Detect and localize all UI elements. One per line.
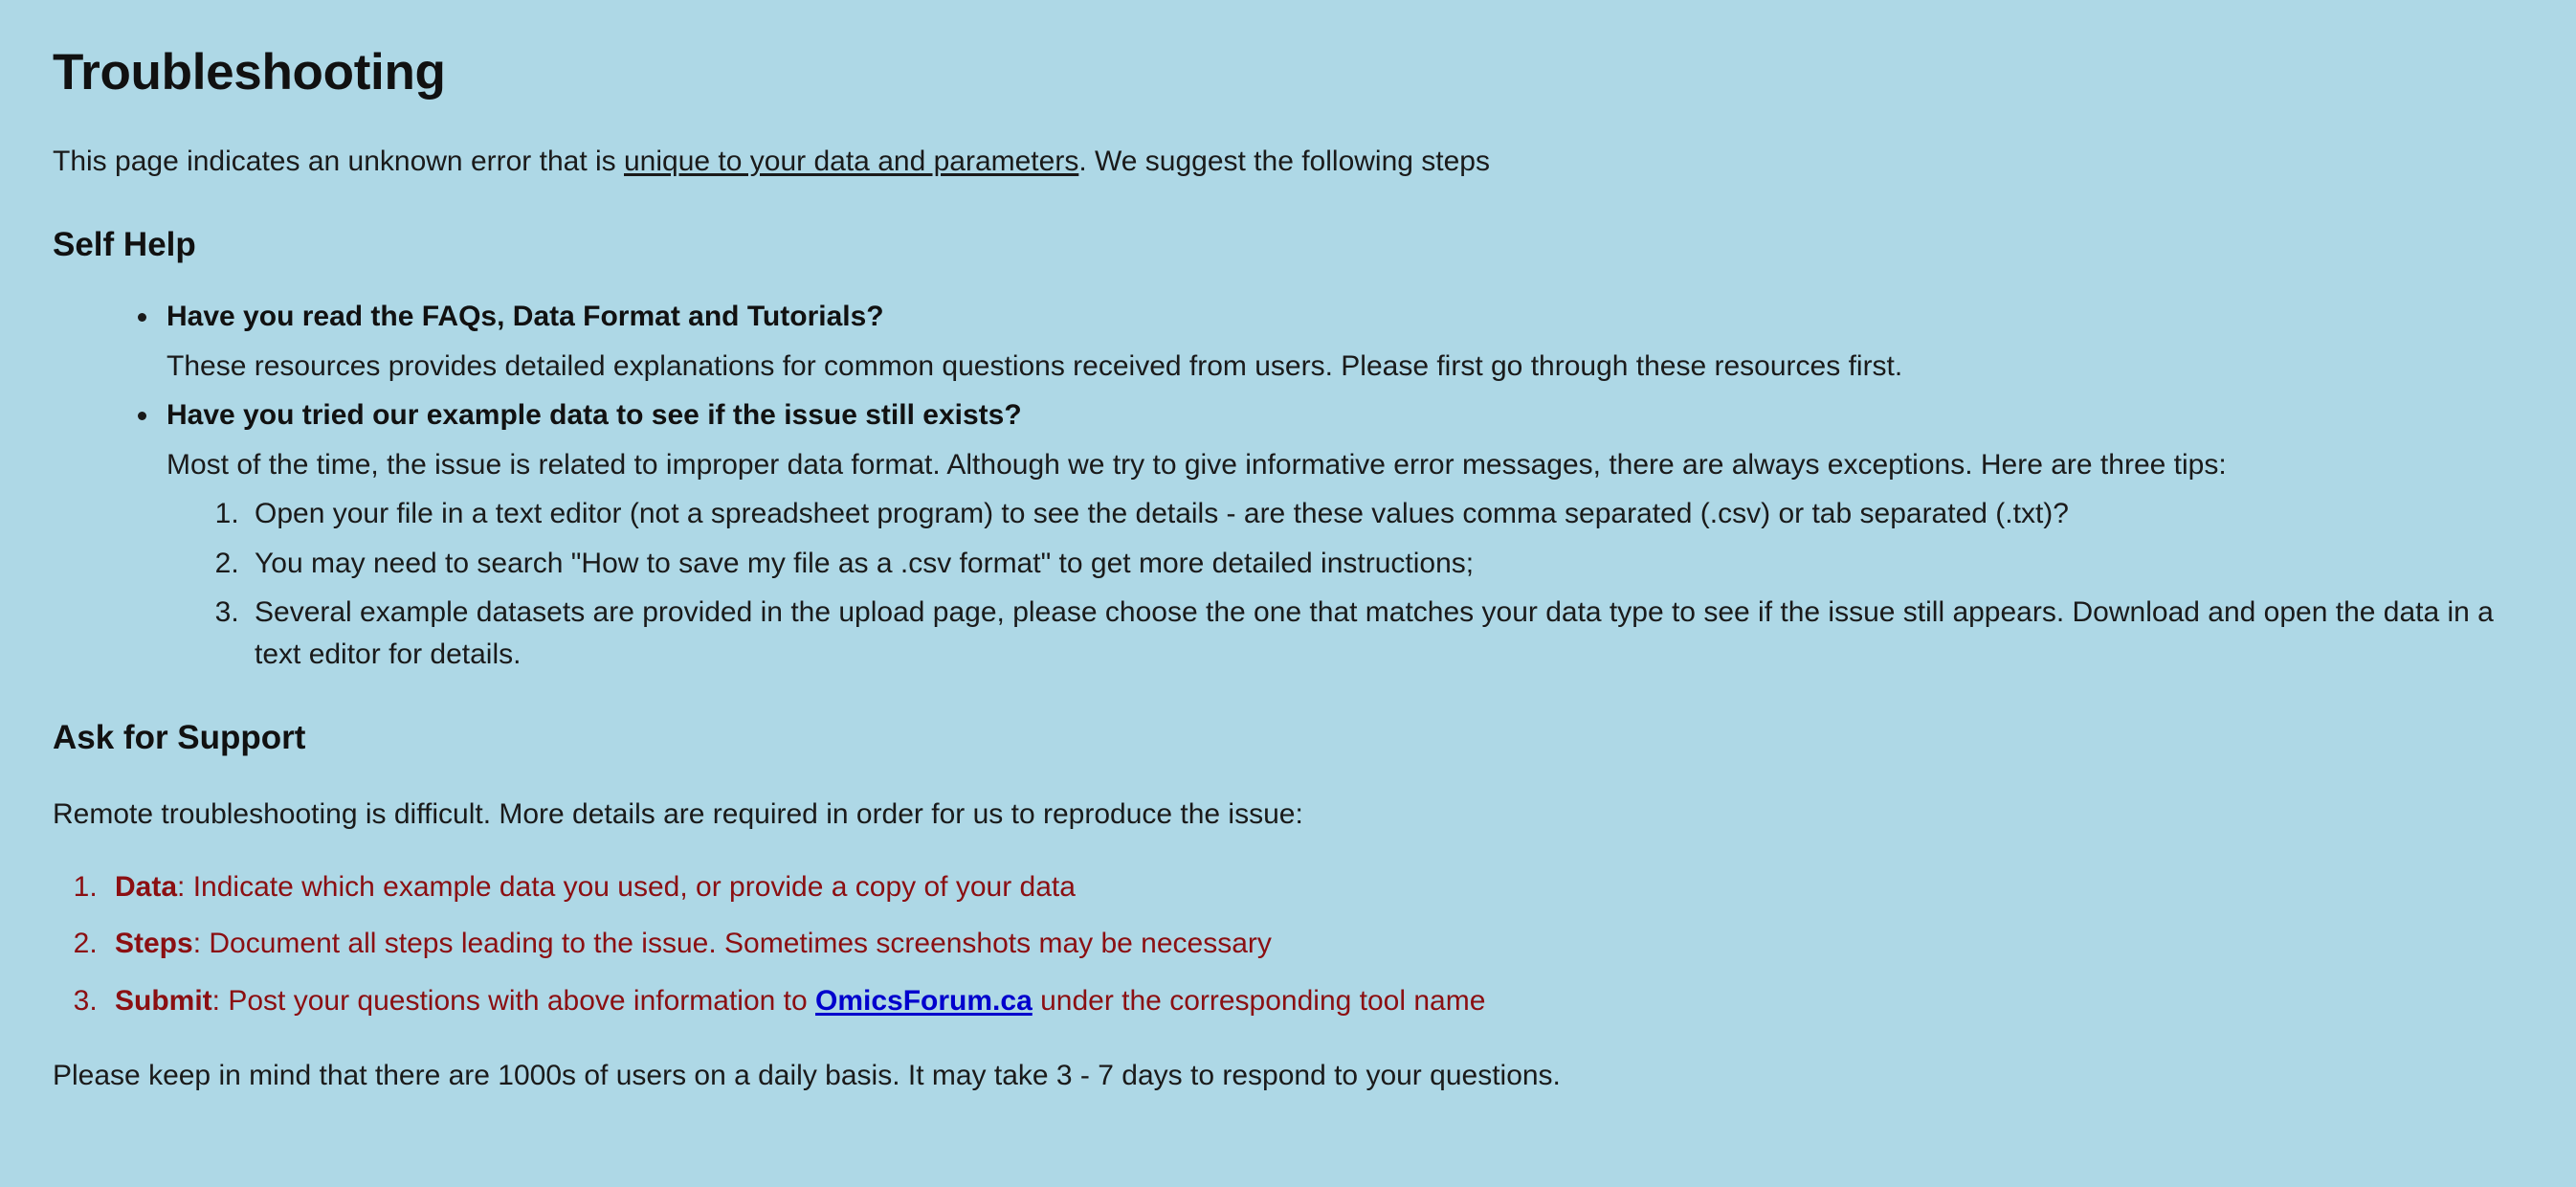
list-item: Submit: Post your questions with above i…	[105, 980, 2523, 1022]
support-item-label-submit: Submit	[115, 985, 212, 1017]
self-help-question-1: Have you read the FAQs, Data Format and …	[167, 296, 2523, 338]
self-help-list: Have you read the FAQs, Data Format and …	[53, 296, 2523, 675]
list-item: Have you read the FAQs, Data Format and …	[161, 296, 2523, 387]
support-item-text-submit-after: under the corresponding tool name	[1033, 985, 1486, 1017]
support-item-text-data: : Indicate which example data you used, …	[177, 871, 1076, 903]
support-item-label-steps: Steps	[115, 928, 193, 959]
self-help-heading: Self Help	[53, 226, 2523, 264]
intro-text-after: . We suggest the following steps	[1078, 146, 1490, 177]
self-help-question-2: Have you tried our example data to see i…	[167, 394, 2523, 437]
intro-emphasis: unique to your data and parameters	[624, 146, 1078, 177]
page-title: Troubleshooting	[53, 44, 2523, 102]
ask-for-support-intro: Remote troubleshooting is difficult. Mor…	[53, 794, 2523, 836]
support-item-text-steps: : Document all steps leading to the issu…	[193, 928, 1272, 959]
support-item-text-submit-before: : Post your questions with above informa…	[212, 985, 815, 1017]
self-help-tips-list: Open your file in a text editor (not a s…	[167, 493, 2523, 675]
intro-text-before: This page indicates an unknown error tha…	[53, 146, 624, 177]
list-item: Data: Indicate which example data you us…	[105, 866, 2523, 908]
list-item: You may need to search "How to save my f…	[247, 543, 2523, 585]
list-item: Open your file in a text editor (not a s…	[247, 493, 2523, 535]
troubleshooting-page: Troubleshooting This page indicates an u…	[0, 0, 2576, 1187]
closing-paragraph: Please keep in mind that there are 1000s…	[53, 1055, 2523, 1097]
list-item: Steps: Document all steps leading to the…	[105, 923, 2523, 965]
intro-paragraph: This page indicates an unknown error tha…	[53, 141, 2523, 183]
support-item-label-data: Data	[115, 871, 177, 903]
self-help-answer-2: Most of the time, the issue is related t…	[167, 444, 2523, 486]
omicsforum-link[interactable]: OmicsForum.ca	[815, 985, 1033, 1017]
ask-for-support-list: Data: Indicate which example data you us…	[53, 866, 2523, 1022]
self-help-answer-1: These resources provides detailed explan…	[167, 346, 2523, 388]
list-item: Several example datasets are provided in…	[247, 592, 2523, 675]
ask-for-support-heading: Ask for Support	[53, 719, 2523, 757]
list-item: Have you tried our example data to see i…	[161, 394, 2523, 675]
